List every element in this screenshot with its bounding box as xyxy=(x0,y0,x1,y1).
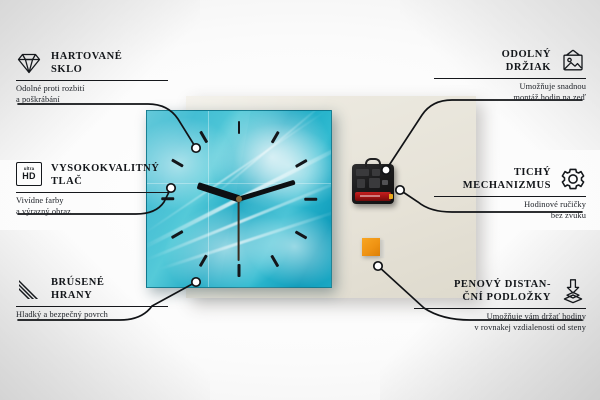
hour-marker xyxy=(304,198,317,201)
infographic-stage: HARTOVANÉ SKLO Odolné proti rozbití a po… xyxy=(0,0,600,400)
second-hand xyxy=(238,199,240,261)
mechanism-detail xyxy=(382,180,388,185)
feature-divider xyxy=(16,80,168,81)
diamond-icon xyxy=(16,50,42,76)
feature-header: HARTOVANÉ SKLO xyxy=(16,50,168,76)
hour-marker xyxy=(270,255,279,268)
hour-marker xyxy=(171,159,184,168)
feature-divider xyxy=(434,196,586,197)
mechanism-hanger-hook xyxy=(365,158,381,167)
feature-title: ODOLNÝ DRŽIAK xyxy=(502,48,551,74)
feature-description-line1: Hladký a bezpečný povrch xyxy=(16,310,168,321)
stacked-arrow-icon xyxy=(560,278,586,304)
gear-icon xyxy=(560,166,586,192)
hour-marker xyxy=(295,230,308,239)
mechanism-detail xyxy=(372,169,380,176)
mechanism-detail xyxy=(356,169,369,176)
feature-description-line1: Hodinové ručičky xyxy=(434,200,586,211)
hour-marker xyxy=(199,255,208,268)
hour-marker xyxy=(238,264,241,277)
picture-frame-icon xyxy=(560,48,586,74)
feature-divider xyxy=(16,192,168,193)
feature-description-line1: Umožňuje vám držať hodiny xyxy=(414,312,586,323)
feature-high-quality-print[interactable]: ultra HD VYSOKOKVALITNÝ TLAČ Vivídne far… xyxy=(16,162,168,217)
feature-divider xyxy=(434,78,586,79)
ultra-hd-icon: ultra HD xyxy=(16,162,42,188)
foam-spacer-pad xyxy=(362,238,380,256)
ultra-hd-icon-main-text: HD xyxy=(22,172,35,181)
feature-description-line2: bez zvuku xyxy=(434,211,586,222)
mechanism-detail xyxy=(369,178,380,188)
clock-mechanism xyxy=(352,164,394,204)
hour-marker xyxy=(199,131,208,144)
feature-description-line1: Odolné proti rozbití xyxy=(16,84,168,95)
feature-header: BRÚSENÉ HRANY xyxy=(16,276,168,302)
feature-divider xyxy=(414,308,586,309)
minute-hand xyxy=(238,180,295,202)
mechanism-detail xyxy=(357,179,365,188)
feature-description-line2: montáž hodin na zeď xyxy=(434,93,586,104)
feature-header: ODOLNÝ DRŽIAK xyxy=(434,48,586,74)
feature-title: PENOVÝ DISTAN- ČNÍ PODLOŽKY xyxy=(454,278,551,304)
feature-header: ultra HD VYSOKOKVALITNÝ TLAČ xyxy=(16,162,168,188)
feature-divider xyxy=(16,306,168,307)
hatched-triangle-icon xyxy=(16,276,42,302)
feature-title: VYSOKOKVALITNÝ TLAČ xyxy=(51,162,159,188)
feature-ground-edges[interactable]: BRÚSENÉ HRANY Hladký a bezpečný povrch xyxy=(16,276,168,321)
feature-title: BRÚSENÉ HRANY xyxy=(51,276,104,302)
feature-header: TICHÝ MECHANIZMUS xyxy=(434,166,586,192)
battery xyxy=(355,192,391,201)
feature-foam-spacers[interactable]: PENOVÝ DISTAN- ČNÍ PODLOŽKY Umožňuje vám… xyxy=(414,278,586,333)
feature-durable-hanger[interactable]: ODOLNÝ DRŽIAK Umožňuje snadnou montáž ho… xyxy=(434,48,586,103)
feature-description-line2: a poškrábání xyxy=(16,95,168,106)
hour-hand xyxy=(196,182,240,202)
feature-description-line1: Vivídne farby xyxy=(16,196,168,207)
feature-description-line1: Umožňuje snadnou xyxy=(434,82,586,93)
feature-description-line2: v rovnakej vzdialenosti od steny xyxy=(414,323,586,334)
glass-wall-clock xyxy=(146,110,332,288)
feature-title: TICHÝ MECHANIZMUS xyxy=(463,166,551,192)
feature-silent-mechanism[interactable]: TICHÝ MECHANIZMUS Hodinové ručičky bez z… xyxy=(434,166,586,221)
clock-dial xyxy=(147,111,331,287)
clock-center-pivot xyxy=(236,196,242,202)
feature-tempered-glass[interactable]: HARTOVANÉ SKLO Odolné proti rozbití a po… xyxy=(16,50,168,105)
hour-marker xyxy=(238,121,241,134)
battery-label-band xyxy=(360,195,380,197)
feature-title: HARTOVANÉ SKLO xyxy=(51,50,122,76)
feature-header: PENOVÝ DISTAN- ČNÍ PODLOŽKY xyxy=(414,278,586,304)
feature-description-line2: a výrazný obraz xyxy=(16,207,168,218)
hour-marker xyxy=(295,159,308,168)
hour-marker xyxy=(270,131,279,144)
hour-marker xyxy=(171,230,184,239)
